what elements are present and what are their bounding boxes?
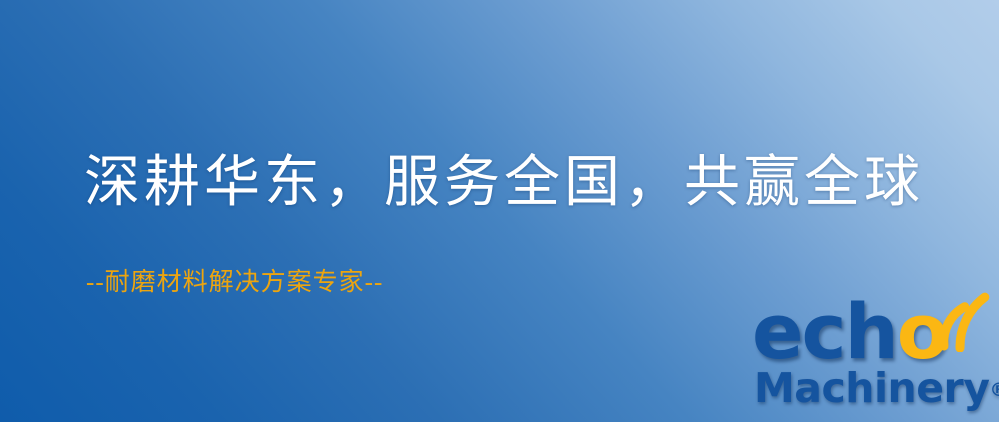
logo-wordmark-blue-text: ech	[752, 287, 897, 376]
echo-machinery-logo[interactable]: echo Machinery®	[752, 292, 996, 420]
logo-wordmark: echo	[752, 292, 947, 372]
logo-subtext-label: Machinery	[754, 364, 989, 412]
banner-subtitle: --耐磨材料解决方案专家--	[86, 268, 383, 298]
logo-wordmark-gold-letter: o	[897, 287, 947, 376]
promotional-banner: 深耕华东，服务全国，共赢全球 --耐磨材料解决方案专家-- echo Machi…	[0, 0, 999, 422]
banner-headline: 深耕华东，服务全国，共赢全球	[84, 152, 924, 214]
logo-subtext: Machinery®	[754, 364, 999, 412]
registered-trademark-icon: ®	[989, 379, 999, 401]
